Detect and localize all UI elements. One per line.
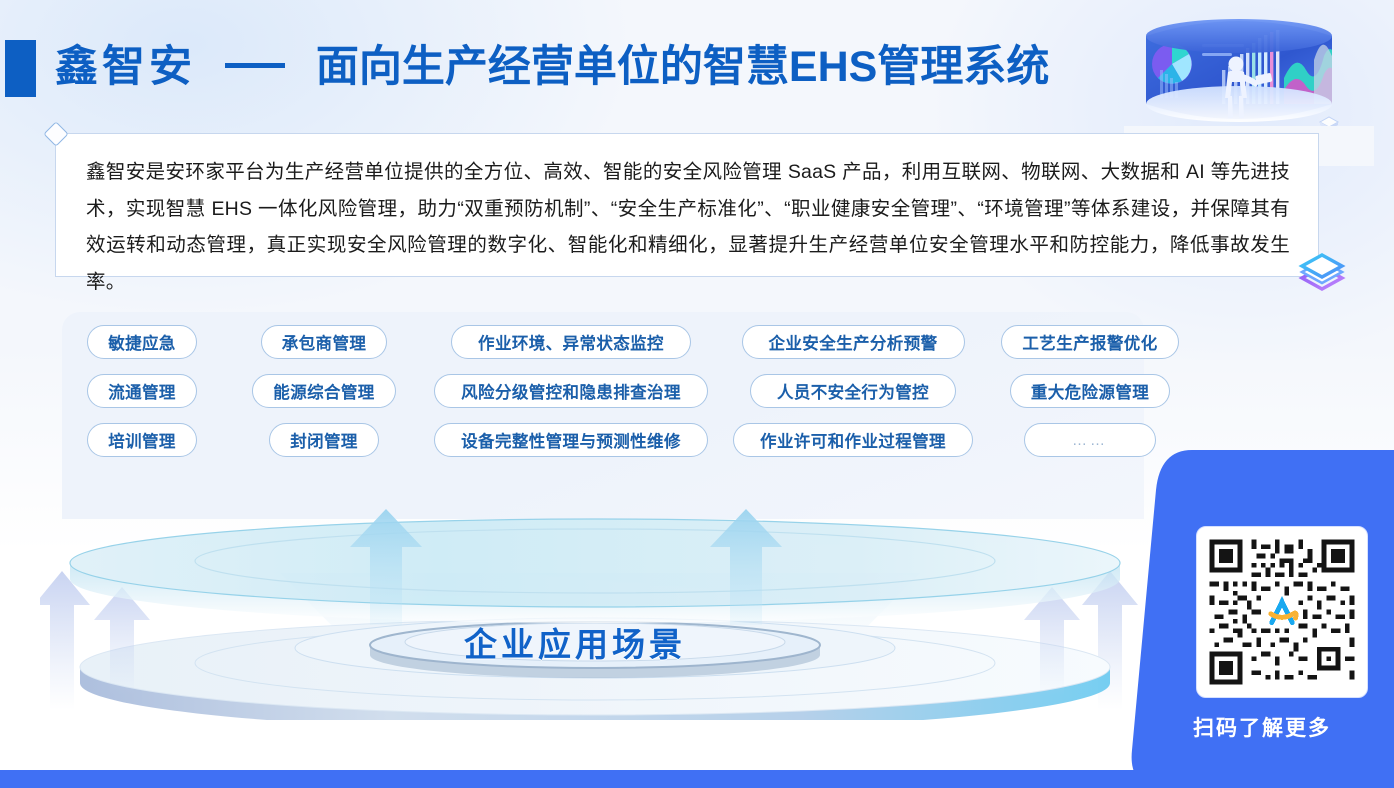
capability-chip[interactable]: 作业环境、异常状态监控 [451, 325, 691, 359]
corner-handle-icon [43, 121, 68, 146]
capability-chip[interactable]: 承包商管理 [261, 325, 388, 359]
poster-page: 鑫智安 面向生产经营单位的智慧EHS管理系统 [0, 0, 1394, 788]
capability-chip[interactable]: 企业安全生产分析预警 [742, 325, 965, 359]
title-dash-icon [225, 63, 285, 68]
capability-chip[interactable]: 培训管理 [87, 423, 197, 457]
capability-chip[interactable]: 作业许可和作业过程管理 [733, 423, 973, 457]
footer-bar [0, 770, 1394, 788]
capability-chip[interactable]: 工艺生产报警优化 [1001, 325, 1178, 359]
description-panel: 鑫智安是安环家平台为生产经营单位提供的全方位、高效、智能的安全风险管理 SaaS… [55, 133, 1319, 277]
brand-name: 鑫智安 [55, 43, 196, 91]
page-title: 鑫智安 面向生产经营单位的智慧EHS管理系统 [55, 37, 1049, 97]
platform-illustration [40, 505, 1150, 720]
capability-chip[interactable]: 重大危险源管理 [1010, 374, 1170, 408]
layers-icon [1293, 247, 1351, 299]
capability-chip[interactable]: 人员不安全行为管控 [750, 374, 956, 408]
qr-panel: 扫码了解更多 [1130, 450, 1394, 788]
stage-label: 企业应用场景 [0, 618, 1150, 666]
capability-chip[interactable]: 敏捷应急 [87, 325, 197, 359]
capabilities-grid: 敏捷应急承包商管理作业环境、异常状态监控企业安全生产分析预警工艺生产报警优化流通… [62, 325, 1152, 457]
capability-chip[interactable]: 能源综合管理 [252, 374, 395, 408]
capability-chip[interactable]: 封闭管理 [269, 423, 379, 457]
qr-code-icon [1205, 535, 1359, 689]
capability-chip[interactable]: 风险分级管控和隐患排查治理 [434, 374, 708, 408]
qr-code-card[interactable] [1196, 526, 1368, 698]
qr-caption: 扫码了解更多 [1130, 712, 1394, 742]
footer-white-strip [0, 748, 1130, 770]
capability-chip[interactable]: 设备完整性管理与预测性维修 [434, 423, 708, 457]
page-subtitle: 面向生产经营单位的智慧EHS管理系统 [316, 43, 1049, 91]
capability-chip[interactable]: 流通管理 [87, 374, 197, 408]
header: 鑫智安 面向生产经营单位的智慧EHS管理系统 [0, 0, 1394, 122]
header-accent-square [5, 40, 36, 97]
description-text: 鑫智安是安环家平台为生产经营单位提供的全方位、高效、智能的安全风险管理 SaaS… [86, 154, 1290, 300]
